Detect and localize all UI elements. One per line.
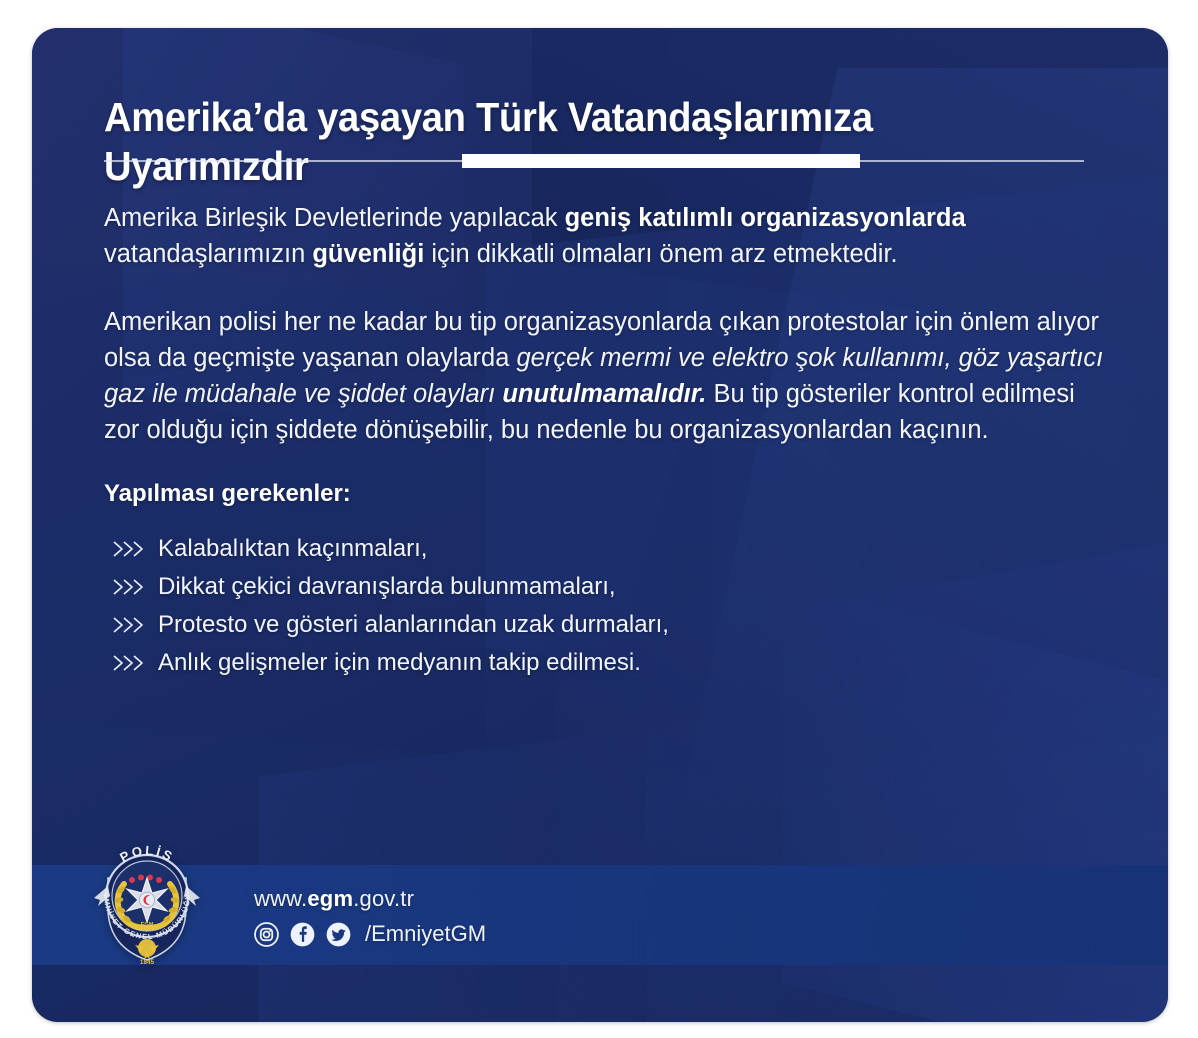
announcement-card: Amerika’da yaşayan Türk Vatandaşlarımıza…: [32, 28, 1168, 1022]
paragraph-1-text-3: için dikkatli olmaları önem arz etmekted…: [424, 240, 897, 268]
paragraph-1-bold-1: geniş katılımlı organizasyonlarda: [565, 204, 966, 232]
paragraph-1-text-1: Amerika Birleşik Devletlerinde yapılacak: [104, 204, 565, 232]
page-title: Amerika’da yaşayan Türk Vatandaşlarımıza…: [104, 93, 1025, 190]
action-list: Kalabalıktan kaçınmaları, Dikkat çekici …: [104, 530, 1104, 682]
list-item-label: Kalabalıktan kaçınmaları,: [158, 530, 427, 568]
paragraph-1-bold-2: güvenliği: [312, 240, 424, 268]
double-chevron-icon: [104, 539, 158, 559]
double-chevron-icon: [104, 615, 158, 635]
list-item-label: Dikkat çekici davranışlarda bulunmamalar…: [158, 568, 616, 606]
paragraph-2-bolditalic-1: unutulmamalıdır.: [502, 380, 706, 408]
list-item: Anlık gelişmeler için medyanın takip edi…: [104, 644, 1104, 682]
paragraph-1-text-2: vatandaşlarımızın: [104, 240, 312, 268]
footer-contact: www.egm.gov.tr: [254, 886, 486, 947]
body-content: Amerika Birleşik Devletlerinde yapılacak…: [104, 200, 1104, 682]
paragraph-2: Amerikan polisi her ne kadar bu tip orga…: [104, 304, 1104, 448]
url-prefix: www.: [254, 886, 307, 911]
svg-text:EGM: EGM: [141, 922, 154, 928]
list-item-label: Anlık gelişmeler için medyanın takip edi…: [158, 644, 641, 682]
facebook-icon[interactable]: [290, 922, 315, 947]
paragraph-1: Amerika Birleşik Devletlerinde yapılacak…: [104, 200, 1104, 272]
url-suffix: .gov.tr: [353, 886, 414, 911]
instagram-icon[interactable]: [254, 922, 279, 947]
double-chevron-icon: [104, 577, 158, 597]
twitter-icon[interactable]: [326, 922, 351, 947]
url-brand: egm: [307, 886, 353, 911]
title-divider: [104, 154, 1084, 168]
list-item: Dikkat çekici davranışlarda bulunmamalar…: [104, 568, 1104, 606]
police-badge-logo: POLİS EMNİYET GENEL MÜDÜRLÜĞÜ: [88, 834, 206, 976]
divider-bar: [462, 154, 860, 168]
social-handle[interactable]: /EmniyetGM: [365, 921, 486, 947]
poster-page: Amerika’da yaşayan Türk Vatandaşlarımıza…: [0, 0, 1198, 1038]
svg-text:1845: 1845: [140, 959, 155, 966]
list-item: Protesto ve gösteri alanlarından uzak du…: [104, 606, 1104, 644]
double-chevron-icon: [104, 653, 158, 673]
list-item-label: Protesto ve gösteri alanlarından uzak du…: [158, 606, 669, 644]
list-heading: Yapılması gerekenler:: [104, 480, 1104, 508]
list-item: Kalabalıktan kaçınmaları,: [104, 530, 1104, 568]
website-url[interactable]: www.egm.gov.tr: [254, 886, 486, 912]
social-links: /EmniyetGM: [254, 921, 486, 947]
